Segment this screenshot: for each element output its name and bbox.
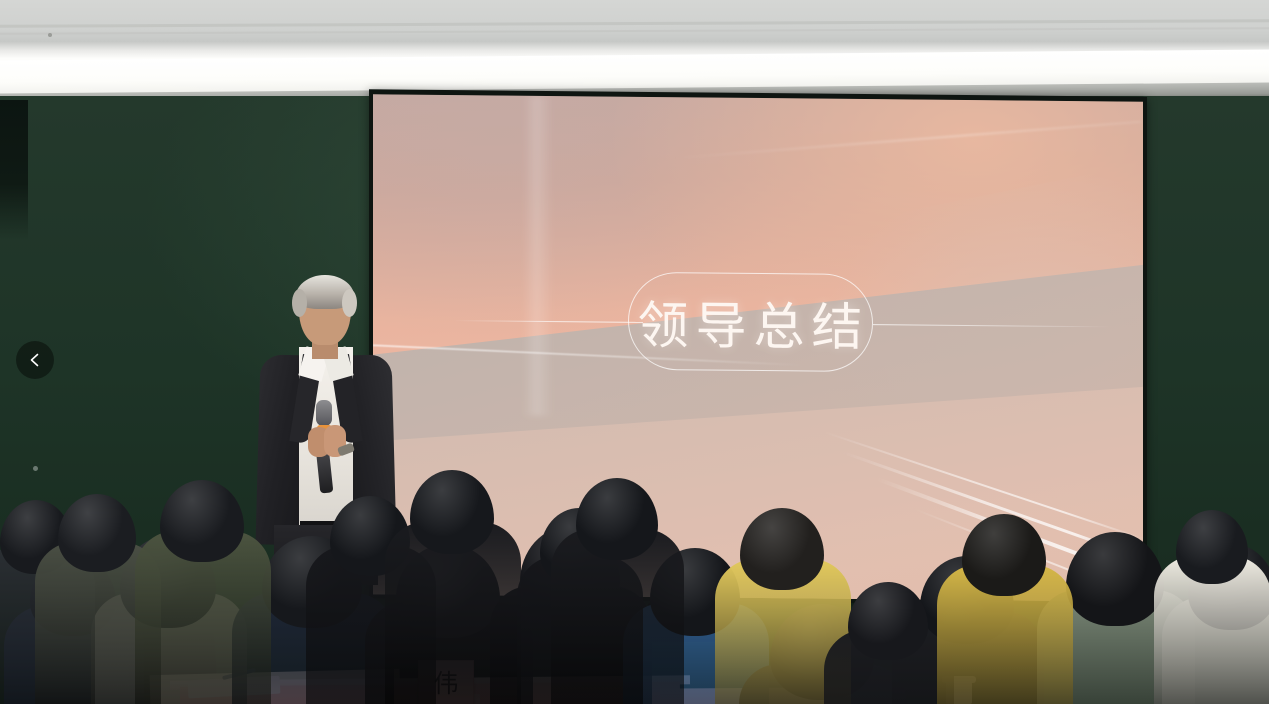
audience-person bbox=[962, 514, 1046, 704]
speaker-hair-side bbox=[342, 289, 357, 317]
audience-person bbox=[848, 582, 928, 704]
audience-person bbox=[740, 508, 824, 704]
audience-person bbox=[576, 478, 658, 680]
audience-person-head bbox=[1066, 532, 1164, 626]
audience-person bbox=[410, 470, 494, 674]
audience-person-head bbox=[1176, 510, 1248, 584]
ceiling-rail bbox=[0, 27, 1269, 35]
speaker-hair-side bbox=[292, 289, 307, 317]
audience-person bbox=[58, 494, 136, 692]
slide-title-block: 领导总结 bbox=[373, 269, 1143, 376]
audience-person-head bbox=[848, 582, 928, 660]
audience-person-head bbox=[962, 514, 1046, 596]
chevron-left-icon bbox=[27, 352, 43, 368]
audience-person-head bbox=[160, 480, 244, 562]
previous-image-button[interactable] bbox=[16, 341, 54, 379]
audience-person-head bbox=[58, 494, 136, 572]
audience-person bbox=[1066, 532, 1164, 704]
audience-person-head bbox=[410, 470, 494, 554]
audience-person-head bbox=[576, 478, 658, 560]
slide-title-rule-left bbox=[453, 320, 643, 323]
slide-title-rule-right bbox=[873, 324, 1113, 327]
audience-person bbox=[160, 480, 244, 682]
screenshot-root: 领导总结 伟 bbox=[0, 0, 1269, 704]
audience-person bbox=[1176, 510, 1248, 704]
overlay-dot-indicator bbox=[33, 466, 38, 471]
slide-title-text: 领导总结 bbox=[631, 284, 869, 360]
wall-left-shadow bbox=[0, 100, 28, 240]
ceiling-rail bbox=[0, 19, 1269, 28]
audience-person-head bbox=[740, 508, 824, 590]
microphone-head-icon bbox=[316, 400, 332, 426]
ceiling-screw bbox=[48, 33, 52, 37]
slide-title-pill: 领导总结 bbox=[628, 272, 873, 372]
